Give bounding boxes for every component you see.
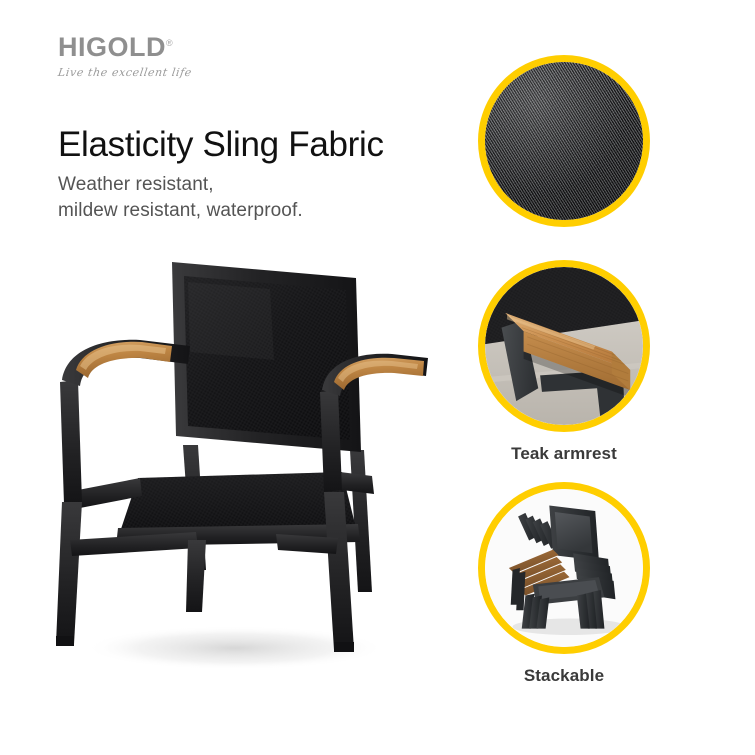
product-feature-card: HIGOLD® Live the excellent life Elastici… (0, 0, 755, 755)
chair-center-leg (186, 540, 206, 612)
feature-circle-1 (478, 55, 650, 227)
feature-circle-3 (478, 482, 650, 654)
feature-caption-teak-armrest: Teak armrest (478, 444, 650, 464)
stacked-rear-legs (511, 568, 526, 610)
chair-front-leg-left-foot (56, 636, 74, 646)
stacked-chairs-image (485, 489, 643, 647)
brand-wordmark-text: HIGOLD (58, 32, 166, 62)
sling-fabric-texture-image (485, 62, 643, 220)
chair-armrest-support-left (60, 380, 82, 504)
feature-stackable[interactable]: Stackable (478, 482, 668, 686)
teak-armrest-image (485, 267, 643, 425)
page-title: Elasticity Sling Fabric (58, 126, 384, 165)
registered-trademark-icon: ® (166, 38, 173, 48)
page-subtitle: Weather resistant, mildew resistant, wat… (58, 172, 303, 224)
chair-seat-weave (120, 472, 356, 532)
mesh-weave-shading (485, 62, 643, 220)
feature-circle-2 (478, 260, 650, 432)
feature-caption-stackable: Stackable (478, 666, 650, 686)
stack-back-fabric-top (555, 512, 593, 553)
feature-sling-fabric-texture[interactable] (478, 55, 668, 227)
brand-logo: HIGOLD® Live the excellent life (58, 34, 298, 79)
brand-tagline: Live the excellent life (57, 66, 299, 79)
page-subtitle-line-2: mildew resistant, waterproof. (58, 198, 303, 224)
chair-front-leg-left (56, 502, 82, 644)
feature-teak-armrest[interactable]: Teak armrest (478, 260, 668, 464)
page-subtitle-line-1: Weather resistant, (58, 172, 303, 198)
chair-front-leg-right-foot (334, 642, 354, 652)
product-image-armchair (20, 240, 450, 680)
chair-backrest-highlight (188, 282, 274, 360)
brand-wordmark: HIGOLD® (58, 34, 173, 61)
